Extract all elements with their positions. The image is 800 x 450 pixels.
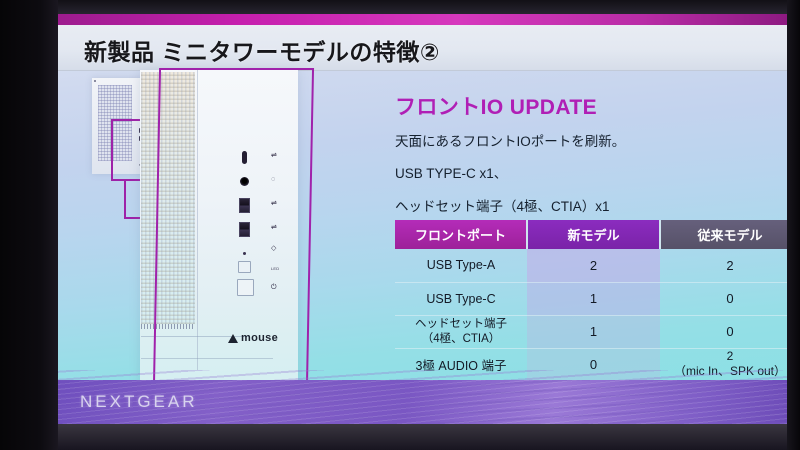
table-header-row: フロントポート 新モデル 従来モデル [395,220,787,249]
product-photo-zone: mouse ⇌ ◌ [66,72,366,392]
slide-accent-bar [58,14,787,25]
body-line-1: 天面にあるフロントIOポートを刷新。 [395,130,625,150]
new-model-cell: 1 [527,282,660,315]
old-model-count: 2 [660,349,787,363]
table-row: USB Type-C 1 0 [395,282,787,315]
body-line-3: ヘッドセット端子（4極、CTIA）x1 [395,195,610,215]
front-port-comparison-table: フロントポート 新モデル 従来モデル USB Type-A 2 2 USB Ty… [395,220,787,382]
old-model-cell: 2 [660,249,787,282]
table-row: USB Type-A 2 2 [395,249,787,282]
callout-connector-vertical [124,181,126,219]
table-header-new-model: 新モデル [527,220,660,249]
new-model-cell: 2 [527,249,660,282]
room-border-top [58,0,787,14]
room-border-left [0,0,58,450]
thumb-corner-dot [94,80,96,82]
table-row: ヘッドセット端子 （4極、CTIA） 1 0 [395,315,787,348]
slide-canvas: 新製品 ミニタワーモデルの特徴② mouse [58,14,787,424]
callout-box-large [153,68,314,386]
table-header-front-port: フロントポート [395,220,527,249]
port-name-sub: （4極、CTIA） [395,332,527,346]
old-model-cell: 0 [660,282,787,315]
table-header-old-model: 従来モデル [660,220,787,249]
section-title: フロントIO UPDATE [395,91,597,121]
new-model-cell: 1 [527,315,660,348]
port-name-cell: USB Type-C [395,282,527,315]
port-name-cell: ヘッドセット端子 （4極、CTIA） [395,315,527,348]
port-name-cell: USB Type-A [395,249,527,282]
slide-footer-band: NEXTGEAR [58,380,787,424]
room-border-bottom [58,424,787,450]
old-model-cell: 0 [660,315,787,348]
nextgear-logo: NEXTGEAR [80,392,198,412]
body-line-2: USB TYPE-C x1、 [395,162,507,182]
page-title: 新製品 ミニタワーモデルの特徴② [84,33,440,67]
port-name-main: ヘッドセット端子 [395,317,527,331]
projected-slide-photo: 新製品 ミニタワーモデルの特徴② mouse [0,0,800,450]
room-border-right [787,0,800,450]
